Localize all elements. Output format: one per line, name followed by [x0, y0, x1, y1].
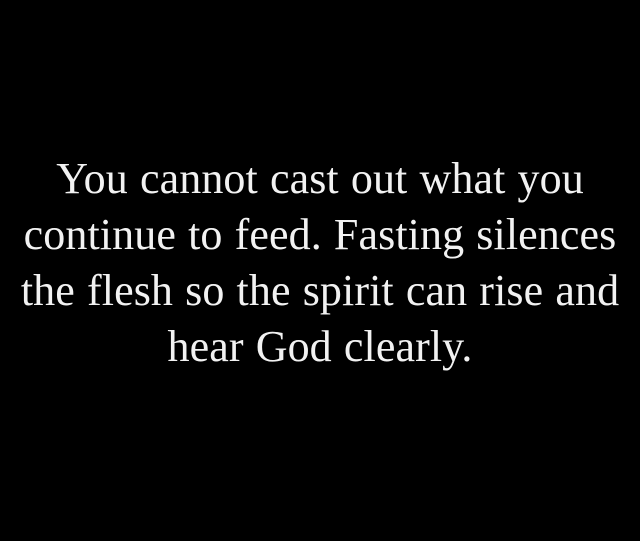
quote-line-2: continue to feed. Fasting silences [21, 207, 619, 263]
quote-line-1: You cannot cast out what you [21, 151, 619, 207]
quote-image-canvas: You cannot cast out what you continue to… [0, 0, 640, 541]
quote-line-3: the flesh so the spirit can rise and [21, 263, 619, 319]
quote-text-block: You cannot cast out what you continue to… [21, 151, 619, 375]
quote-line-4: hear God clearly. [21, 319, 619, 375]
